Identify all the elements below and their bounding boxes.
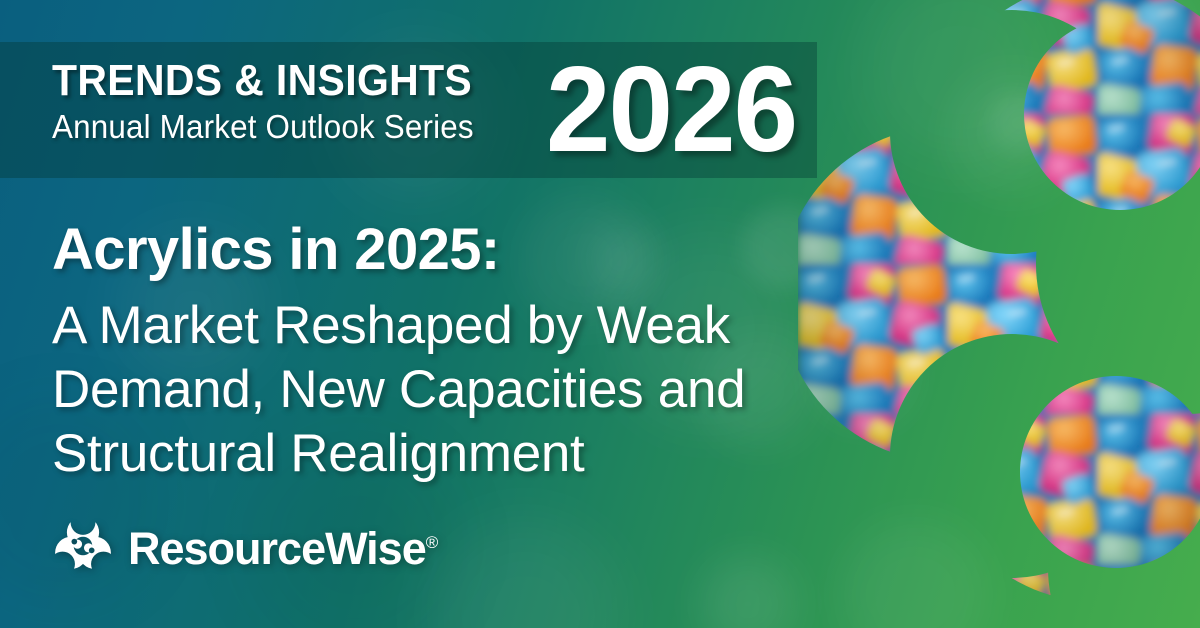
series-title: TRENDS & INSIGHTS [52,56,515,106]
resourcewise-trefoil-icon [52,515,114,577]
headline-subtitle-line: Demand, New Capacities and [52,358,842,422]
header-content: TRENDS & INSIGHTS Annual Market Outlook … [52,42,817,178]
marketing-banner: TRENDS & INSIGHTS Annual Market Outlook … [0,0,1200,628]
bokeh-circle [430,520,620,628]
series-subtitle: Annual Market Outlook Series [52,106,525,148]
bokeh-circle [700,556,796,628]
series-year: 2026 [546,45,796,173]
registered-trademark-symbol: ® [426,533,439,552]
headline-block: Acrylics in 2025: A Market Reshaped by W… [52,214,842,486]
series-eyebrow: TRENDS & INSIGHTS Annual Market Outlook … [52,56,550,148]
artwork-pellets [798,0,1200,628]
wordmark-text: ResourceWise [128,523,426,574]
resourcewise-logo: ResourceWise® [52,514,438,578]
headline-subtitle-line: A Market Reshaped by Weak [52,294,842,358]
resourcewise-wordmark: ResourceWise® [128,517,438,575]
headline-title: Acrylics in 2025: [52,214,842,286]
headline-subtitle-line: Structural Realignment [52,422,842,486]
